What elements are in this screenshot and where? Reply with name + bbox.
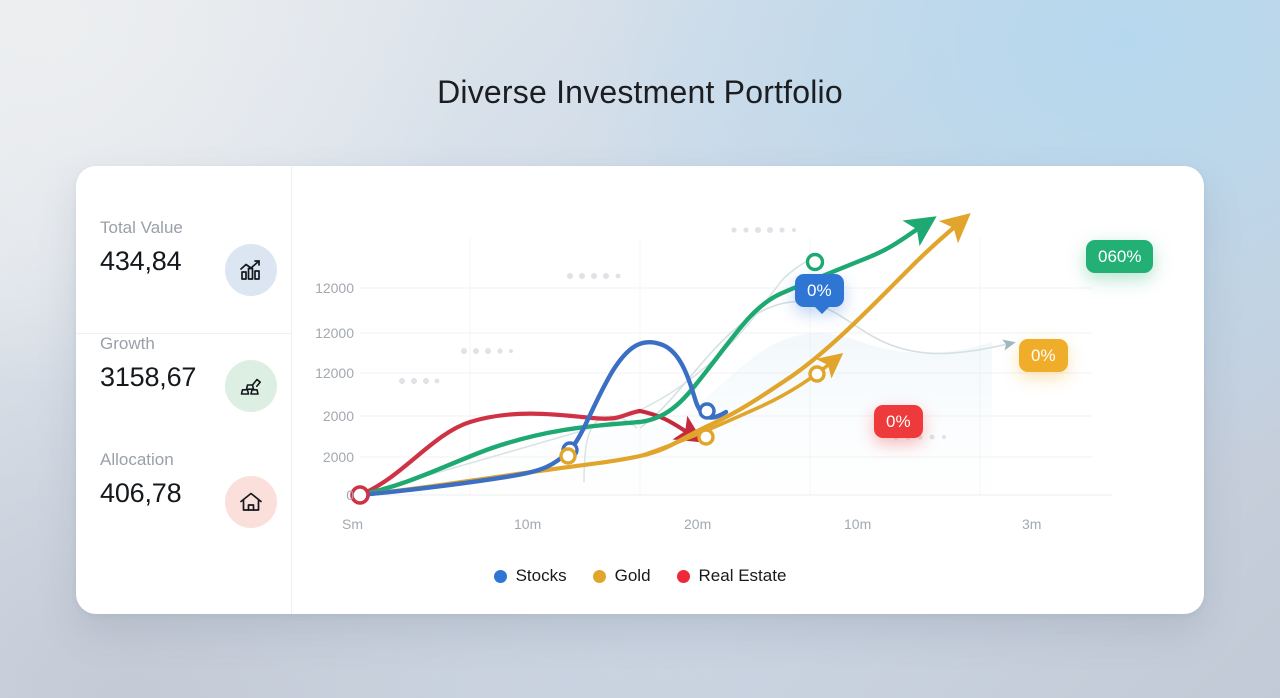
growth-callout-badge[interactable]: 060% xyxy=(1086,240,1153,273)
legend-label: Real Estate xyxy=(699,566,787,586)
legend-item-stocks[interactable]: Stocks xyxy=(494,566,567,586)
x-tick-0: Sm xyxy=(342,516,363,532)
stats-sidebar: Total Value 434,84 Growth 3158,67 xyxy=(76,166,292,614)
x-tick-3: 10m xyxy=(844,516,871,532)
marker-growth-1 xyxy=(808,255,823,270)
y-tick-3: 2000 xyxy=(244,408,354,424)
marker-origin xyxy=(352,487,368,503)
legend-item-gold[interactable]: Gold xyxy=(593,566,651,586)
x-tick-4: 3m xyxy=(1022,516,1041,532)
stat-allocation[interactable]: Allocation 406,78 xyxy=(76,450,291,566)
x-tick-2: 20m xyxy=(684,516,711,532)
y-tick-5: 0 xyxy=(244,487,354,503)
page-title: Diverse Investment Portfolio xyxy=(0,74,1280,111)
stat-label: Growth xyxy=(100,334,267,354)
y-tick-1: 12000 xyxy=(244,325,354,341)
stat-label: Allocation xyxy=(100,450,267,470)
stat-total-value[interactable]: Total Value 434,84 xyxy=(76,218,291,334)
chart-canvas xyxy=(292,166,1204,614)
legend-dot-icon xyxy=(494,570,507,583)
legend-item-real-estate[interactable]: Real Estate xyxy=(677,566,787,586)
portfolio-card: Total Value 434,84 Growth 3158,67 xyxy=(76,166,1204,614)
legend-label: Gold xyxy=(615,566,651,586)
stat-growth[interactable]: Growth 3158,67 xyxy=(76,334,291,450)
marker-gold-1 xyxy=(561,449,575,463)
chart-legend: Stocks Gold Real Estate xyxy=(0,566,1280,586)
legend-dot-icon xyxy=(593,570,606,583)
legend-dot-icon xyxy=(677,570,690,583)
screen: Diverse Investment Portfolio Total Value… xyxy=(0,0,1280,698)
marker-stocks-2 xyxy=(700,404,714,418)
stat-label: Total Value xyxy=(100,218,267,238)
y-tick-0: 12000 xyxy=(244,280,354,296)
marker-gold-2 xyxy=(699,430,713,444)
gold-callout-badge[interactable]: 0% xyxy=(1019,339,1068,372)
y-tick-4: 2000 xyxy=(244,449,354,465)
real-estate-callout-badge[interactable]: 0% xyxy=(874,405,923,438)
x-tick-1: 10m xyxy=(514,516,541,532)
portfolio-chart: 12000 12000 12000 2000 2000 0 Sm 10m 20m… xyxy=(292,166,1204,614)
legend-label: Stocks xyxy=(516,566,567,586)
marker-gold-3 xyxy=(810,367,824,381)
y-tick-2: 12000 xyxy=(244,365,354,381)
stocks-callout-badge[interactable]: 0% xyxy=(795,274,844,307)
